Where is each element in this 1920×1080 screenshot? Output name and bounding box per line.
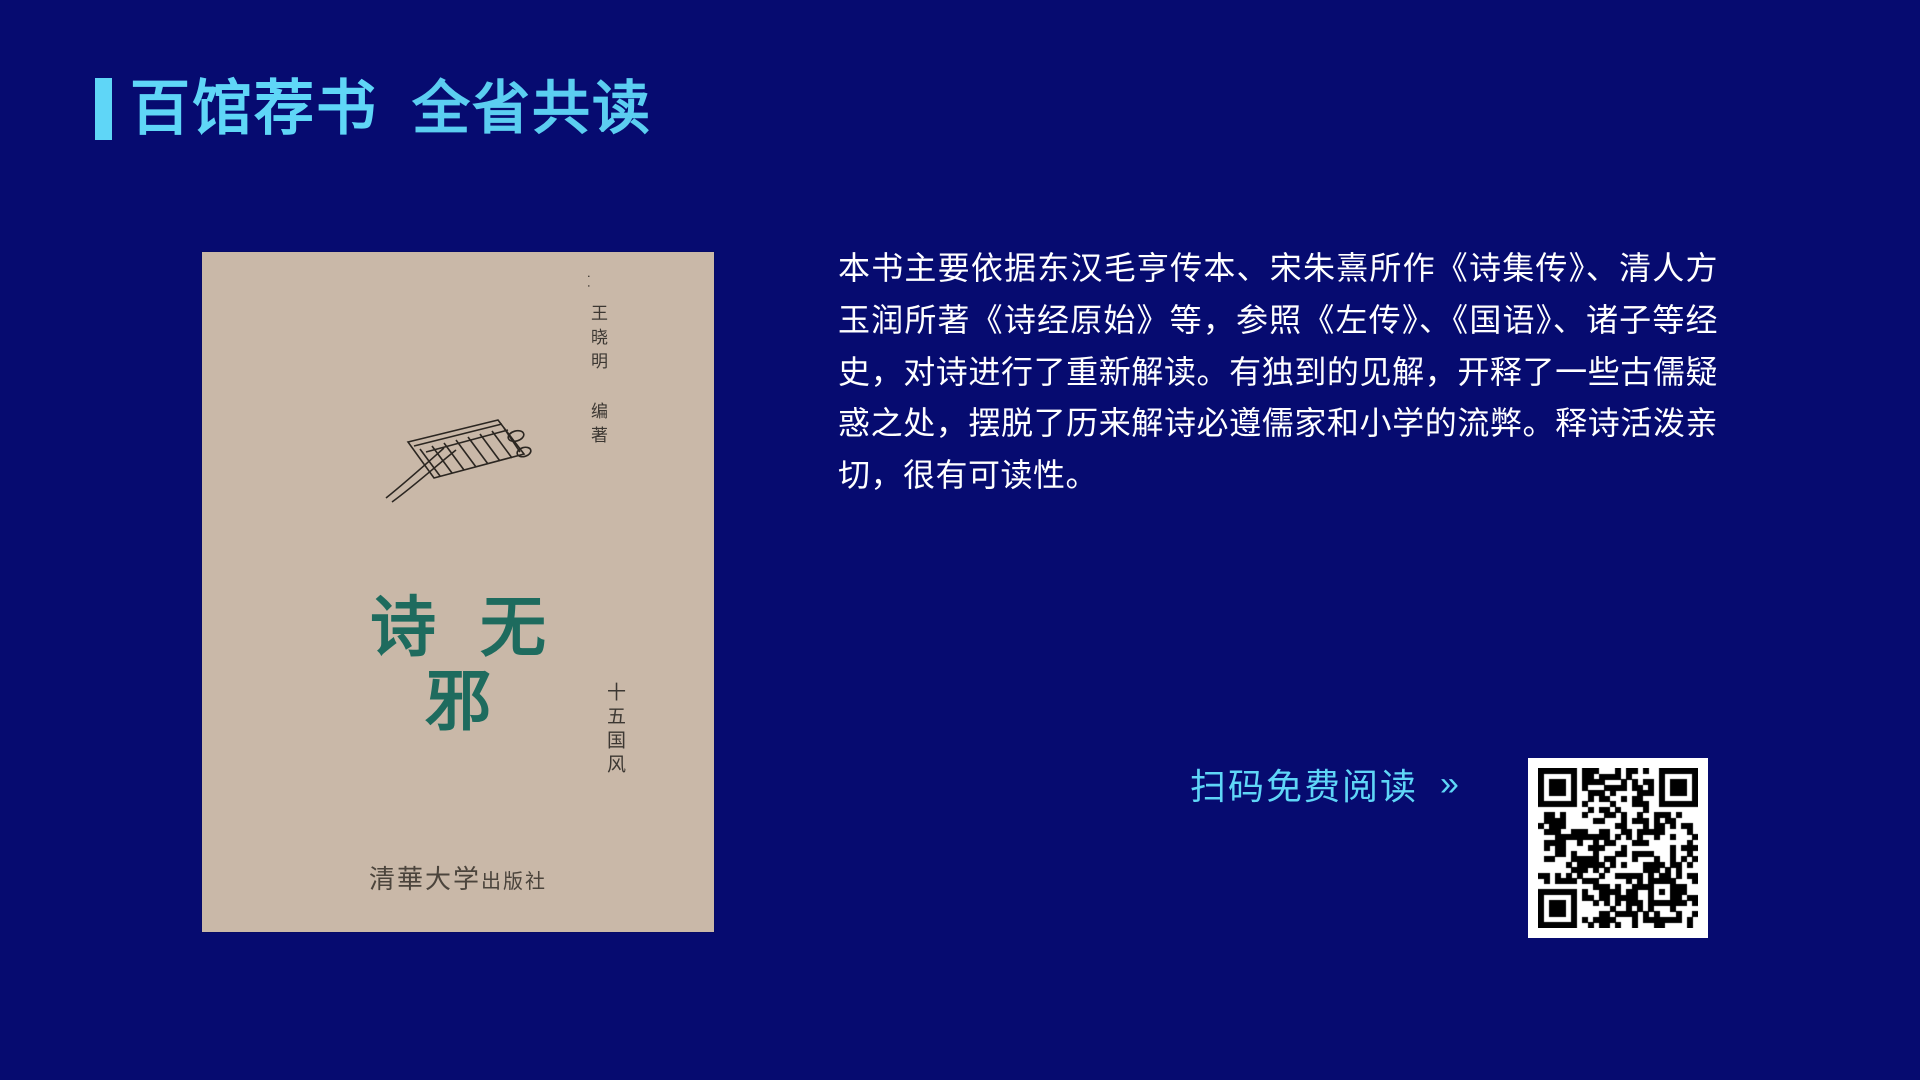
publisher-name: 清華大学 bbox=[369, 865, 481, 894]
chevron-right-icon: » bbox=[1440, 765, 1457, 804]
qr-code[interactable] bbox=[1528, 758, 1708, 938]
header: 百馆荐书 全省共读 bbox=[95, 78, 652, 140]
book-cover[interactable]: ·· 王晓明 编著 bbox=[202, 252, 714, 932]
bamboo-scroll-icon bbox=[348, 402, 568, 522]
page-title: 百馆荐书 bbox=[130, 79, 378, 139]
cover-publisher: 清華大学出版社 bbox=[202, 859, 714, 896]
cover-subtitle: 十五国风 bbox=[601, 682, 628, 778]
cover-dots: ·· bbox=[582, 274, 598, 293]
poster-root: 百馆荐书 全省共读 ·· 王晓明 编著 bbox=[0, 0, 1920, 1080]
cover-title-line-1: 诗无 bbox=[202, 592, 714, 666]
publisher-suffix: 出版社 bbox=[481, 871, 547, 893]
scan-prompt: 扫码免费阅读 » bbox=[1190, 758, 1457, 810]
cover-author: 王晓明 编著 bbox=[587, 304, 606, 450]
scan-label: 扫码免费阅读 bbox=[1190, 758, 1418, 810]
cover-title: 诗无 邪 bbox=[202, 592, 714, 740]
accent-bar-icon bbox=[95, 78, 112, 140]
qr-code-canvas bbox=[1538, 768, 1698, 928]
page-subtitle: 全省共读 bbox=[412, 80, 652, 138]
book-description: 本书主要依据东汉毛亨传本、宋朱熹所作《诗集传》、清人方玉润所著《诗经原始》等，参… bbox=[838, 243, 1718, 502]
cover-title-line-2: 邪 bbox=[202, 666, 714, 740]
